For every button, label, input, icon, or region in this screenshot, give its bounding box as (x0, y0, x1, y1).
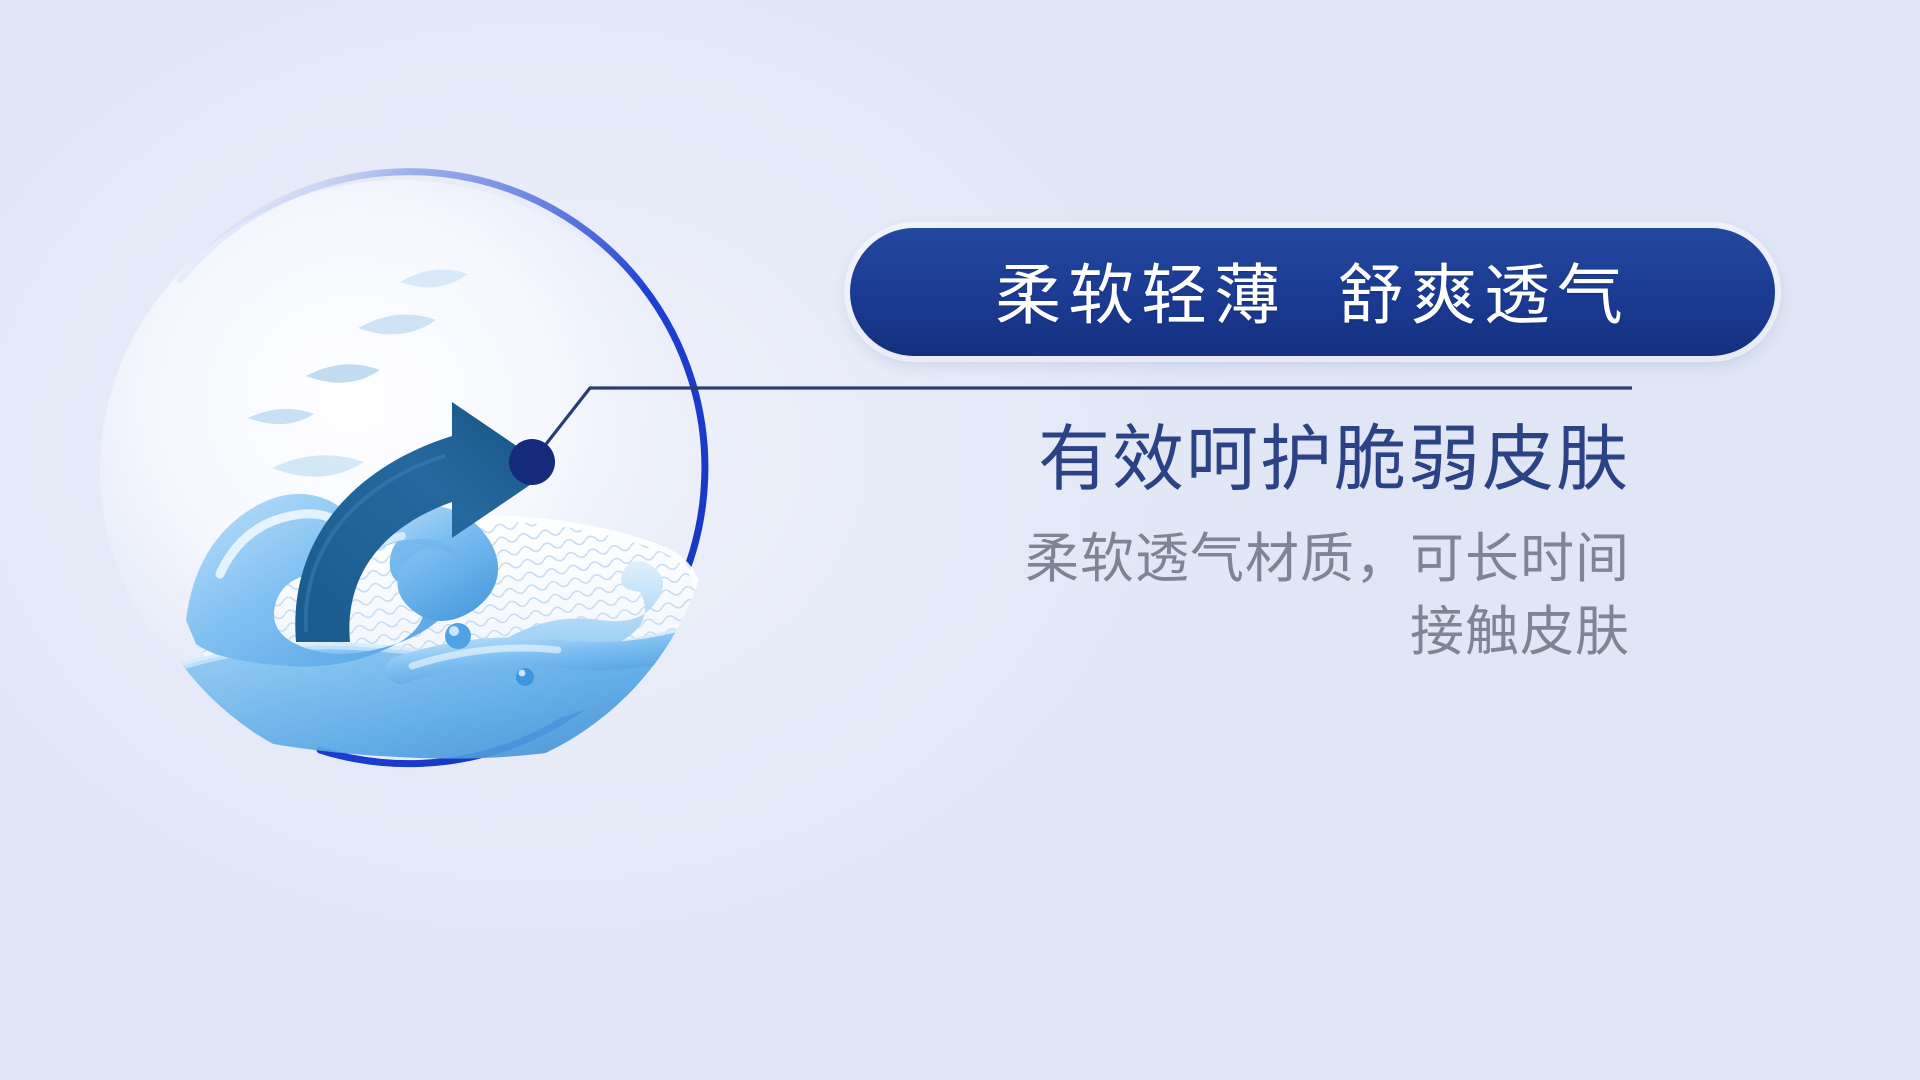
promo-canvas: 柔软轻薄 舒爽透气 有效呵护脆弱皮肤 柔软透气材质，可长时间 接触皮肤 (0, 0, 1920, 1080)
breathable-fabric-illustration (100, 150, 780, 830)
feature-banner-pill: 柔软轻薄 舒爽透气 (850, 228, 1775, 356)
subtitle-line-2: 接触皮肤 (780, 596, 1630, 669)
subtitle-line-1: 柔软透气材质，可长时间 (780, 523, 1630, 596)
feature-banner-label: 柔软轻薄 舒爽透气 (995, 242, 1630, 338)
subtitle: 柔软透气材质，可长时间 接触皮肤 (780, 523, 1630, 669)
promo-text-block: 有效呵护脆弱皮肤 柔软透气材质，可长时间 接触皮肤 (780, 420, 1630, 668)
headline: 有效呵护脆弱皮肤 (780, 420, 1630, 501)
